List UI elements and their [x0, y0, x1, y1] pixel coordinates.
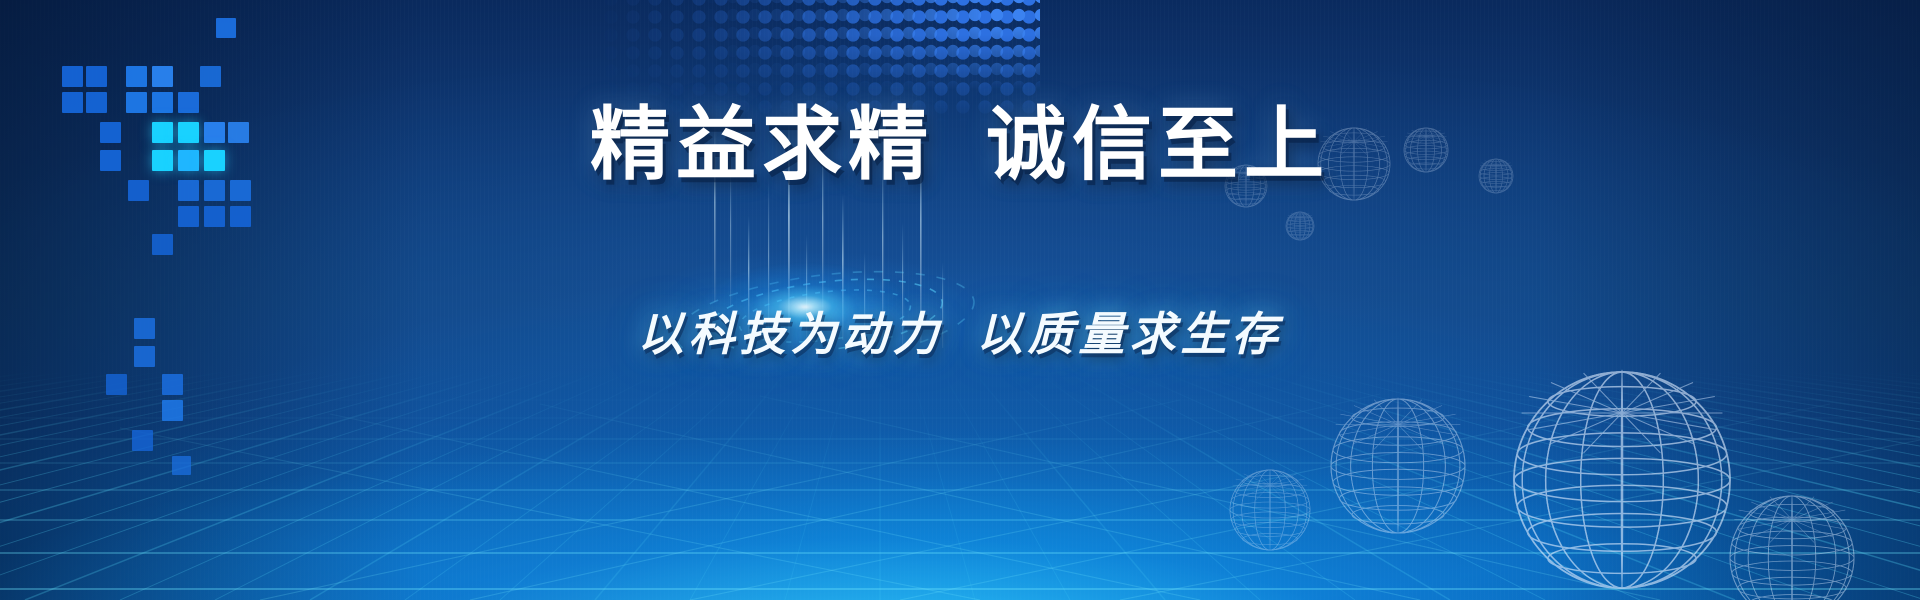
grid-lines: [0, 370, 1920, 600]
pixel-block: [178, 206, 199, 227]
light-beam-group: [620, 120, 1000, 350]
banner-copy: 精益求精 诚信至上 以科技为动力 以质量求生存: [0, 0, 1920, 600]
halftone-dot-field: [600, 0, 1040, 122]
pixel-block: [204, 180, 225, 201]
banner-headline: 精益求精 诚信至上: [590, 106, 1330, 186]
light-beam: [822, 130, 823, 326]
pixel-block: [106, 374, 127, 395]
pixel-block: [128, 180, 149, 201]
light-beam: [842, 194, 844, 340]
pixel-block: [126, 66, 147, 87]
light-beam: [768, 180, 769, 348]
light-beam: [788, 120, 790, 334]
pixel-block: [230, 206, 251, 227]
wireframe-globe: [1230, 469, 1310, 550]
pixel-block: [86, 92, 107, 113]
pixel-block: [162, 400, 183, 421]
wireframe-globe: [1730, 495, 1854, 600]
light-beam: [942, 262, 943, 348]
pixel-block: [178, 150, 199, 171]
background-gradient: [0, 0, 1920, 600]
orbit-ring: [671, 257, 979, 350]
pixel-block: [62, 92, 83, 113]
wireframe-globe: [1479, 159, 1513, 193]
perspective-grid-floor: [0, 370, 1920, 600]
wireframe-globe-group: [1180, 80, 1920, 600]
pixel-mosaic: [0, 0, 1920, 600]
pixel-block: [204, 150, 225, 171]
pixel-block: [152, 234, 173, 255]
pixel-block: [216, 18, 236, 38]
wireframe-globe: [1331, 398, 1465, 533]
tech-banner: 精益求精 诚信至上 以科技为动力 以质量求生存: [0, 0, 1920, 600]
light-beam: [714, 120, 716, 302]
pixel-block: [100, 122, 121, 143]
pixel-block: [172, 456, 191, 475]
vignette-overlay: [0, 0, 1920, 600]
pixel-block: [204, 122, 225, 143]
pixel-block: [132, 430, 153, 451]
pixel-block: [162, 374, 183, 395]
light-beam: [748, 216, 749, 334]
pixel-block: [134, 346, 155, 367]
banner-subheadline: 以科技为动力 以质量求生存: [638, 312, 1283, 358]
pixel-block: [228, 122, 249, 143]
light-beam: [902, 222, 903, 346]
pixel-block: [204, 206, 225, 227]
pixel-block: [152, 122, 173, 143]
pixel-block: [152, 150, 173, 171]
orbit-ring: [704, 268, 947, 350]
halftone-dot-field-dense: [700, 0, 1040, 90]
floor-glow: [0, 400, 1920, 600]
pixel-block: [100, 150, 121, 171]
wireframe-globe: [1286, 212, 1314, 240]
core-glow-halo: [630, 250, 990, 380]
light-beam: [730, 158, 731, 308]
light-beam: [920, 120, 922, 342]
pixel-block: [200, 66, 221, 87]
light-beam: [882, 150, 883, 344]
scanline-texture: [0, 0, 1920, 600]
wireframe-globe: [1225, 165, 1267, 207]
wireframe-globe: [1404, 128, 1448, 172]
pixel-block: [152, 92, 173, 113]
pixel-block: [178, 122, 199, 143]
pixel-block: [178, 92, 199, 113]
pixel-block: [134, 318, 155, 339]
light-beam: [864, 252, 865, 344]
pixel-block: [62, 66, 83, 87]
pixel-block: [178, 180, 199, 201]
wireframe-globe: [1318, 127, 1390, 200]
core-glow: [700, 262, 910, 352]
pixel-block: [86, 66, 107, 87]
light-beam: [806, 234, 807, 338]
pixel-block: [230, 180, 251, 201]
wireframe-globe: [1514, 370, 1730, 588]
orbit-ring: [737, 282, 914, 350]
pixel-block: [152, 66, 173, 87]
pixel-block: [126, 92, 147, 113]
